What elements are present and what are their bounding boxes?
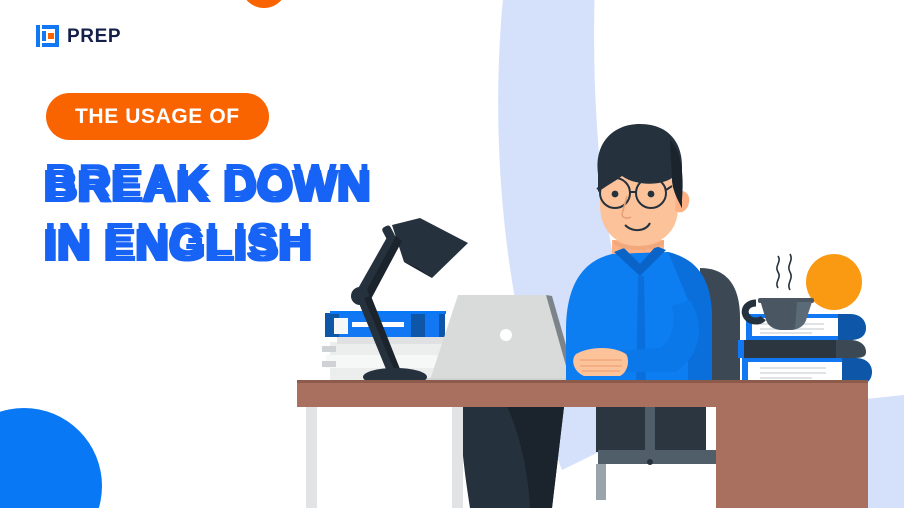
prep-logo[interactable]: PREP [36, 24, 121, 48]
logo-wordmark: PREP [67, 27, 121, 46]
prep-square-logo-icon [36, 24, 60, 48]
steam-icon [777, 254, 791, 290]
banner-canvas: PREP THE USAGE OF BREAK DOWN IN ENGLISH [0, 0, 904, 508]
headline-line-1: BREAK DOWN [44, 151, 464, 210]
eyebrow-badge[interactable]: THE USAGE OF [46, 93, 269, 140]
laptop [420, 295, 582, 386]
headline-line-2: IN ENGLISH [44, 210, 464, 269]
headline-block: BREAK DOWN IN ENGLISH [44, 151, 464, 269]
eyebrow-label: THE USAGE OF [75, 105, 240, 129]
book-stack-right [738, 314, 872, 386]
desk [297, 380, 868, 508]
